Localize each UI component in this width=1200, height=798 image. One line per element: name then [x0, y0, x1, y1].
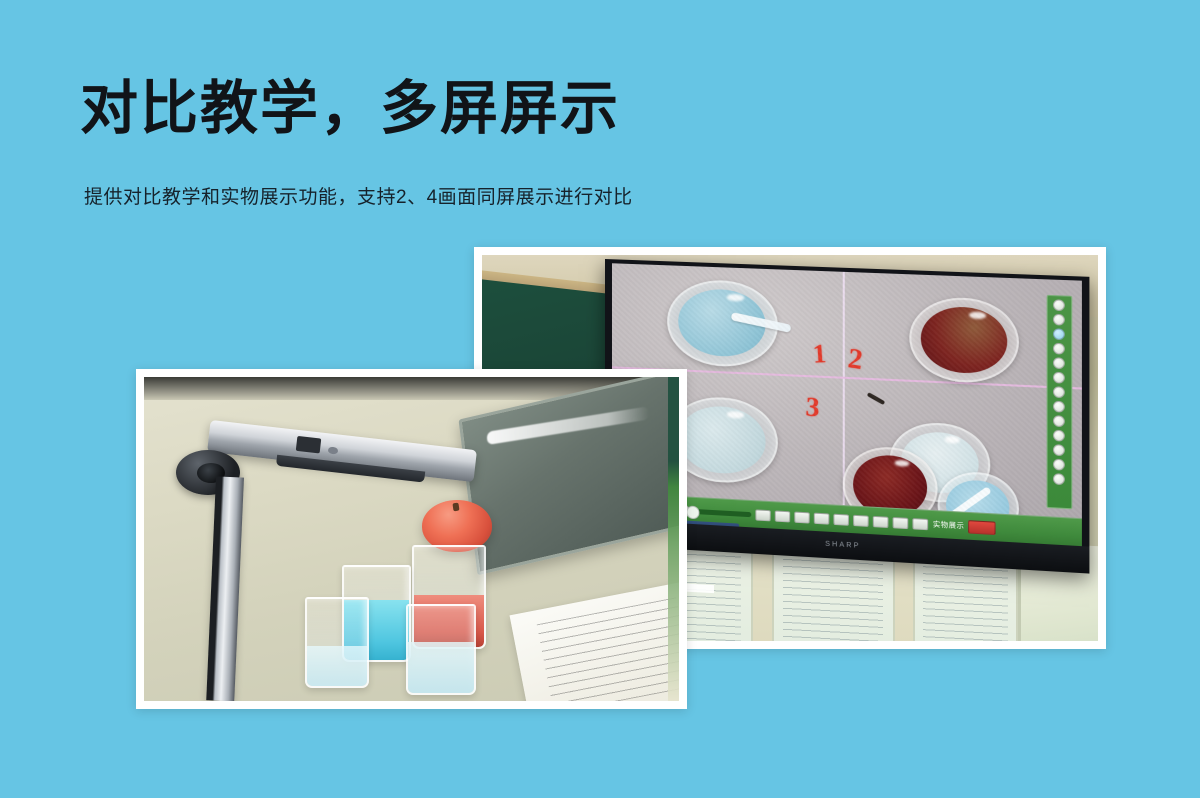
brand-logo: SHARP: [825, 541, 860, 550]
fullscreen-icon[interactable]: [913, 518, 929, 530]
screen-glare: [487, 406, 650, 445]
tablet-screen: [458, 377, 679, 575]
split-four-icon[interactable]: [834, 513, 850, 525]
overlap-edge-strip: [668, 377, 679, 701]
camera-control-button: [296, 436, 322, 454]
color-icon[interactable]: [1054, 415, 1066, 427]
beaker-liquid: [408, 642, 474, 692]
zoom-icon[interactable]: [1054, 401, 1066, 413]
petri-dish-highlight: [969, 311, 986, 319]
tweezers: [867, 392, 886, 405]
compare-icon[interactable]: [874, 516, 890, 528]
document-camera-arm: [206, 477, 244, 701]
video-icon[interactable]: [1054, 444, 1066, 456]
petri-dish-liquid: [679, 288, 766, 358]
petri-dish-highlight: [728, 411, 745, 419]
pen-icon[interactable]: [1054, 343, 1066, 355]
beaker-liquid: [307, 646, 367, 686]
petri-dish-liquid: [901, 430, 979, 496]
exit-icon[interactable]: [1054, 473, 1066, 485]
petri-dish-clear-lower-right: [890, 421, 990, 505]
toolbar-mode-label: 实物展示: [933, 519, 965, 531]
eraser-icon[interactable]: [1054, 358, 1066, 370]
document-camera-head: [207, 420, 476, 482]
banner-root: 对比教学，多屏屏示 提供对比教学和实物展示功能，支持2、4画面同屏展示进行对比: [0, 0, 1200, 798]
camera-lens-housing: [276, 455, 426, 483]
handwritten-worksheet: [509, 581, 679, 701]
rotate-right-icon[interactable]: [815, 512, 830, 524]
settings-icon[interactable]: [1054, 386, 1066, 398]
camera-indicator-light: [328, 447, 338, 455]
display-side-toolbar[interactable]: [1047, 295, 1072, 509]
split-screen-icon[interactable]: [1054, 430, 1066, 442]
desk-scene: [144, 377, 679, 701]
petri-dish-highlight: [895, 460, 909, 467]
save-icon[interactable]: [1054, 459, 1066, 471]
page-title: 对比教学，多屏屏示: [80, 76, 620, 143]
beaker-clear-left: [305, 597, 369, 688]
brightness-icon[interactable]: [1054, 372, 1066, 384]
petri-dish-highlight: [728, 294, 745, 302]
page-subtitle: 提供对比教学和实物展示功能，支持2、4画面同屏展示进行对比: [84, 182, 633, 209]
capture-icon[interactable]: [1054, 300, 1066, 312]
petri-dish-highlight: [945, 436, 960, 444]
quadrant-number-3: 3: [805, 393, 820, 422]
exit-button[interactable]: [969, 520, 996, 535]
apple: [422, 500, 492, 552]
rotate-icon[interactable]: [1054, 314, 1066, 326]
photo-visualizer-desk: [144, 377, 679, 701]
worksheet-text-lines: [537, 598, 679, 701]
page-size-icon[interactable]: [756, 509, 771, 521]
petri-dish-liquid: [679, 404, 766, 475]
pipette-dropper: [731, 312, 792, 333]
apple-stem: [453, 503, 460, 512]
photo-frame-visualizer-desk: [136, 369, 687, 709]
zoom-slider[interactable]: [693, 509, 752, 517]
rotate-left-icon[interactable]: [795, 511, 810, 523]
petri-dish-liquid: [920, 305, 1007, 375]
quadrant-divider-vertical: [843, 272, 845, 534]
petri-dish-red: [909, 295, 1019, 384]
quadrant-number-2: 2: [846, 345, 863, 375]
quadrant-number-1: 1: [812, 341, 827, 368]
fit-screen-icon[interactable]: [775, 510, 790, 522]
split-two-icon[interactable]: [854, 515, 870, 527]
petri-dish-blue: [667, 278, 777, 368]
beaker-clear-right: [406, 604, 476, 695]
refresh-icon[interactable]: [1054, 329, 1066, 341]
freeze-icon[interactable]: [893, 517, 909, 529]
